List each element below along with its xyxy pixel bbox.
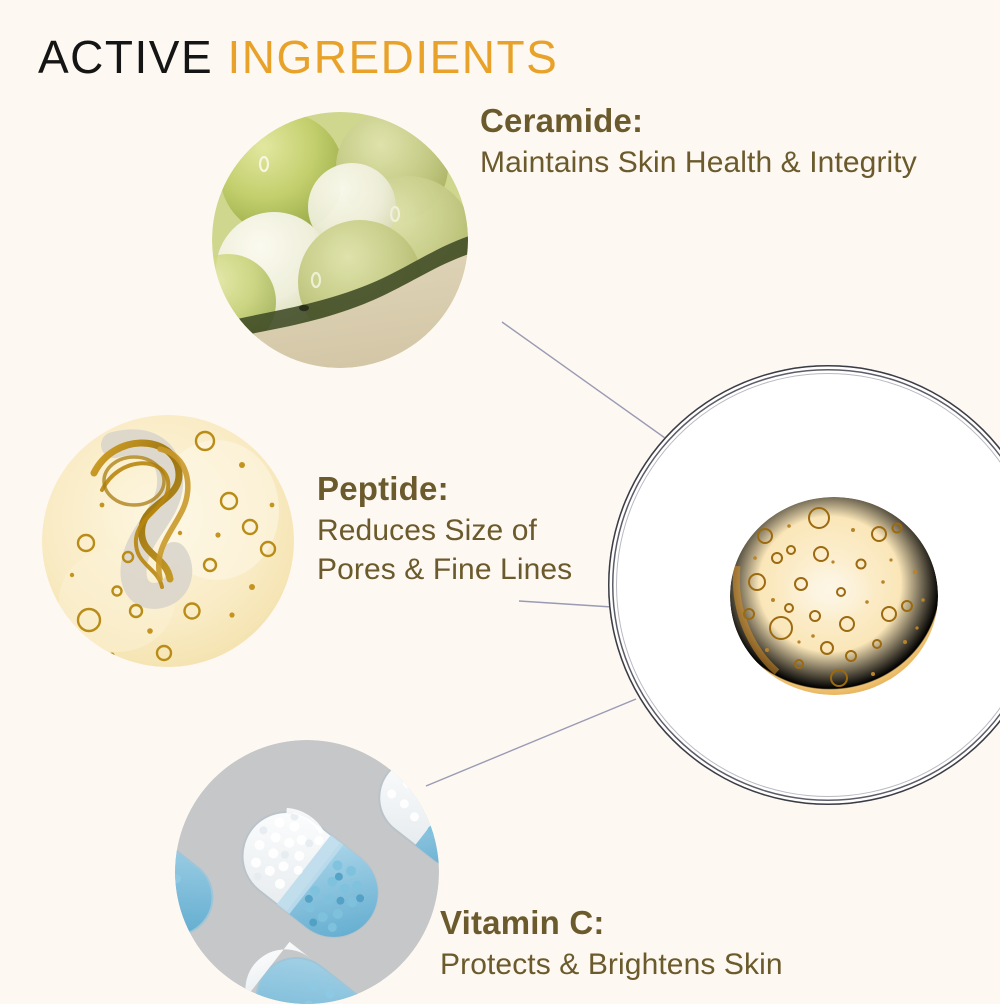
- connector-line-peptide: [519, 601, 612, 607]
- green-spheres-photo: [212, 112, 468, 368]
- ingredient-image-vitaminc: [175, 740, 439, 1004]
- petri-dish-with-serum: [608, 365, 1000, 805]
- infographic-canvas: ACTIVE INGREDIENTS: [0, 0, 1000, 1000]
- label-vitaminc: Vitamin C: Protects & Brightens Skin: [440, 902, 783, 984]
- label-peptide-heading: Peptide:: [317, 468, 572, 511]
- label-vitaminc-heading: Vitamin C:: [440, 902, 783, 945]
- label-ceramide-heading: Ceramide:: [480, 100, 917, 143]
- golden-serum-photo: [42, 415, 294, 667]
- title-word-active: ACTIVE: [38, 31, 213, 83]
- label-ceramide: Ceramide: Maintains Skin Health & Integr…: [480, 100, 917, 182]
- ingredient-image-ceramide: [212, 112, 468, 368]
- petri-dish-interior: [619, 376, 1000, 794]
- label-peptide-description-line2: Pores & Fine Lines: [317, 550, 572, 589]
- ingredient-image-peptide: [42, 415, 294, 667]
- label-vitaminc-description: Protects & Brightens Skin: [440, 945, 783, 984]
- connector-line-ceramide: [502, 322, 672, 443]
- label-ceramide-description: Maintains Skin Health & Integrity: [480, 143, 917, 182]
- label-peptide-description-line1: Reduces Size of: [317, 511, 572, 550]
- connector-line-vitaminc: [426, 699, 636, 786]
- blue-white-capsules-photo: [175, 740, 439, 1004]
- serum-drop: [729, 496, 939, 696]
- page-title: ACTIVE INGREDIENTS: [38, 30, 558, 84]
- label-peptide: Peptide: Reduces Size of Pores & Fine Li…: [317, 468, 572, 589]
- title-word-ingredients: INGREDIENTS: [227, 31, 558, 83]
